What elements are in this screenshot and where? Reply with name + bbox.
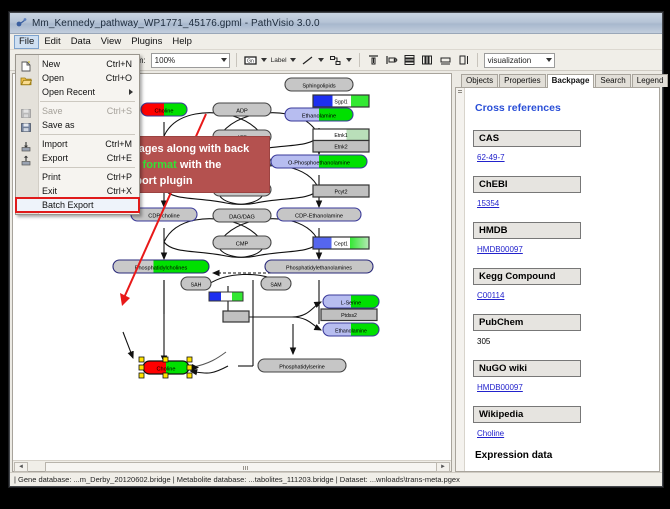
save-disk-icon: [20, 106, 32, 117]
xref-kegg: Kegg Compound C00114: [473, 266, 651, 303]
svg-text:Ptdss2: Ptdss2: [341, 313, 357, 319]
svg-text:CDP-Ethanolamine: CDP-Ethanolamine: [295, 213, 343, 219]
menu-item-import-accel: Ctrl+M: [105, 139, 139, 149]
submenu-arrow-icon: [129, 89, 133, 95]
new-file-icon: [20, 59, 32, 70]
menu-separator-1: [40, 101, 135, 102]
xref-cas-value[interactable]: 62-49-7: [477, 153, 505, 162]
tab-properties[interactable]: Properties: [499, 74, 545, 87]
menu-plugins[interactable]: Plugins: [126, 35, 167, 49]
window-title: Mm_Kennedy_pathway_WP1771_45176.gpml - P…: [32, 18, 320, 29]
line-dropdown-arrow-icon[interactable]: [318, 53, 325, 67]
tab-backpage[interactable]: Backpage: [547, 74, 595, 88]
menu-item-print-accel: Ctrl+P: [107, 172, 139, 182]
align-top-icon[interactable]: [366, 53, 381, 68]
xref-kegg-value[interactable]: C00114: [477, 291, 504, 300]
xref-wikipedia-label: Wikipedia: [473, 406, 581, 423]
menu-item-export-label: Export: [38, 153, 107, 163]
toolbar-separator: [236, 53, 237, 67]
application-window: Mm_Kennedy_pathway_WP1771_45176.gpml - P…: [9, 12, 663, 487]
svg-text:Etnk1: Etnk1: [334, 133, 347, 139]
callout-line-2b: with the: [177, 159, 222, 171]
menu-edit[interactable]: Edit: [39, 35, 65, 49]
menu-separator-2: [40, 134, 135, 135]
svg-text:SAH: SAH: [191, 282, 202, 288]
xref-pubchem: PubChem 305: [473, 312, 651, 349]
scroll-right-arrow-icon[interactable]: ►: [436, 462, 450, 472]
xref-pubchem-label: PubChem: [473, 314, 581, 331]
same-width-icon[interactable]: [438, 53, 453, 68]
menu-file[interactable]: File: [14, 35, 39, 49]
export-icon: [20, 153, 32, 164]
gene-box-icon[interactable]: Gn: [243, 53, 258, 68]
right-panel-tabs: Objects Properties Backpage Search Legen…: [455, 73, 660, 87]
menu-item-export-accel: Ctrl+E: [107, 153, 139, 163]
svg-text:ADP: ADP: [236, 108, 248, 114]
xref-nugo-value[interactable]: HMDB00097: [477, 383, 523, 392]
label-dropdown-arrow-icon[interactable]: [290, 53, 297, 67]
xref-chebi-label: ChEBI: [473, 176, 581, 193]
menu-separator-3: [40, 167, 135, 168]
menu-item-import[interactable]: Import Ctrl+M: [16, 137, 139, 151]
panel-drag-gutter[interactable]: [456, 88, 465, 471]
svg-text:Ethanolamine: Ethanolamine: [335, 328, 367, 334]
xref-nugo-label: NuGO wiki: [473, 360, 581, 377]
menu-item-print[interactable]: Print Ctrl+P: [16, 170, 139, 184]
svg-text:CMP: CMP: [236, 241, 249, 247]
svg-text:SAM: SAM: [270, 282, 281, 288]
xref-hmdb: HMDB HMDB00097: [473, 220, 651, 257]
menu-item-open-accel: Ctrl+O: [106, 73, 139, 83]
label-tool-label: Label: [271, 57, 287, 64]
xref-cas-label: CAS: [473, 130, 581, 147]
title-bar: Mm_Kennedy_pathway_WP1771_45176.gpml - P…: [10, 13, 662, 34]
chevron-down-icon: [221, 58, 227, 62]
menu-item-import-label: Import: [38, 139, 105, 149]
connector-dropdown-arrow-icon[interactable]: [346, 53, 353, 67]
svg-text:Phosphatidylserine: Phosphatidylserine: [279, 364, 325, 370]
xref-chebi: ChEBI 15354: [473, 174, 651, 211]
zoom-select[interactable]: 100%: [151, 53, 230, 68]
import-icon: [20, 139, 32, 150]
menu-item-exit[interactable]: Exit Ctrl+X: [16, 184, 139, 198]
menu-item-batch-export[interactable]: Batch Export: [16, 198, 139, 212]
xref-nugo: NuGO wiki HMDB00097: [473, 358, 651, 395]
menu-item-save-as[interactable]: Save as: [16, 118, 139, 132]
expression-data-title: Expression data: [475, 450, 651, 461]
svg-text:O-Phosphoethanolamine: O-Phosphoethanolamine: [288, 160, 350, 166]
toolbar-separator-2: [359, 53, 360, 67]
menu-item-new[interactable]: New Ctrl+N: [16, 57, 139, 71]
open-folder-icon: [20, 73, 32, 84]
tab-legend[interactable]: Legend: [632, 74, 669, 87]
menu-item-save-as-label: Save as: [38, 120, 132, 130]
toolbar-separator-3: [477, 53, 478, 67]
menu-item-exit-accel: Ctrl+X: [107, 186, 139, 196]
line-icon[interactable]: [300, 53, 315, 68]
xref-chebi-value[interactable]: 15354: [477, 199, 499, 208]
xref-wikipedia: Wikipedia Choline: [473, 404, 651, 441]
pathvisio-icon: [15, 17, 27, 29]
same-height-icon[interactable]: [456, 53, 471, 68]
menu-view[interactable]: View: [96, 35, 126, 49]
menu-item-batch-export-label: Batch Export: [38, 200, 139, 210]
align-left-icon[interactable]: [384, 53, 399, 68]
menu-bar: File Edit Data View Plugins Help: [10, 34, 662, 50]
chevron-down-icon-2: [546, 58, 552, 62]
distribute-vertical-icon[interactable]: [402, 53, 417, 68]
visualization-value: visualization: [488, 56, 532, 65]
zoom-value: 100%: [155, 56, 175, 65]
svg-text:Pcyt2: Pcyt2: [335, 190, 348, 196]
selected-node-choline: Choline: [139, 352, 226, 378]
menu-item-save: Save Ctrl+S: [16, 104, 139, 118]
status-text: | Gene database: ...m_Derby_20120602.bri…: [14, 475, 460, 484]
menu-item-print-label: Print: [38, 172, 107, 182]
distribute-horizontal-icon[interactable]: [420, 53, 435, 68]
scroll-left-arrow-icon[interactable]: ◄: [14, 462, 28, 472]
scrollbar-thumb[interactable]: [45, 462, 440, 472]
xref-cas: CAS 62-49-7: [473, 128, 651, 165]
menu-item-save-label: Save: [38, 106, 107, 116]
menu-item-open-label: Open: [38, 73, 106, 83]
xref-wikipedia-value[interactable]: Choline: [477, 429, 504, 438]
backpage-content: Cross references CAS 62-49-7 ChEBI 15354…: [465, 88, 659, 471]
svg-text:Phosphatidylcholines: Phosphatidylcholines: [135, 265, 188, 271]
xref-pubchem-value: 305: [477, 337, 490, 346]
svg-text:Sphingolipids: Sphingolipids: [302, 83, 335, 89]
svg-text:Choline: Choline: [157, 366, 176, 372]
xref-hmdb-label: HMDB: [473, 222, 581, 239]
menu-item-save-accel: Ctrl+S: [107, 106, 139, 116]
tab-search[interactable]: Search: [595, 74, 630, 87]
menu-item-open-recent-label: Open Recent: [38, 87, 139, 97]
tab-objects[interactable]: Objects: [461, 74, 498, 87]
svg-text:L-Serine: L-Serine: [341, 300, 361, 306]
svg-text:Cept1: Cept1: [334, 242, 348, 248]
svg-text:DAG/DAG: DAG/DAG: [229, 214, 255, 220]
menu-item-exit-label: Exit: [38, 186, 107, 196]
svg-text:Sgpl1: Sgpl1: [334, 100, 347, 106]
menu-item-open-recent[interactable]: Open Recent: [16, 85, 139, 99]
visualization-select[interactable]: visualization: [484, 53, 555, 68]
menu-item-new-label: New: [38, 59, 106, 69]
backpage-panel: Cross references CAS 62-49-7 ChEBI 15354…: [455, 87, 660, 472]
svg-text:Gn: Gn: [247, 58, 254, 64]
menu-item-open[interactable]: Open Ctrl+O: [16, 71, 139, 85]
menu-item-export[interactable]: Export Ctrl+E: [16, 151, 139, 165]
svg-text:Ethanolamine: Ethanolamine: [302, 113, 336, 119]
xref-kegg-label: Kegg Compound: [473, 268, 581, 285]
status-bar: | Gene database: ...m_Derby_20120602.bri…: [10, 472, 662, 486]
menu-help[interactable]: Help: [167, 35, 197, 49]
canvas-horizontal-scrollbar[interactable]: ◄ ►: [13, 460, 451, 471]
cross-references-title: Cross references: [475, 102, 651, 114]
svg-text:CDP-choline: CDP-choline: [148, 213, 179, 219]
save-as-icon: [20, 120, 32, 131]
gene-dropdown-arrow-icon[interactable]: [261, 53, 268, 67]
svg-text:Etnk2: Etnk2: [334, 145, 347, 151]
screenshot-root: Mm_Kennedy_pathway_WP1771_45176.gpml - P…: [0, 0, 670, 509]
scrollbar-grip: [243, 466, 249, 470]
xref-hmdb-value[interactable]: HMDB00097: [477, 245, 523, 254]
menu-data[interactable]: Data: [66, 35, 96, 49]
node-choline-top: Choline: [155, 108, 174, 114]
right-panel: Objects Properties Backpage Search Legen…: [455, 73, 660, 472]
svg-text:Phosphatidylethanolamines: Phosphatidylethanolamines: [286, 265, 352, 271]
connector-icon[interactable]: [328, 53, 343, 68]
menu-item-new-accel: Ctrl+N: [106, 59, 139, 69]
file-menu-dropdown[interactable]: New Ctrl+N Open Ctrl+O Open Recent Save: [15, 54, 140, 215]
